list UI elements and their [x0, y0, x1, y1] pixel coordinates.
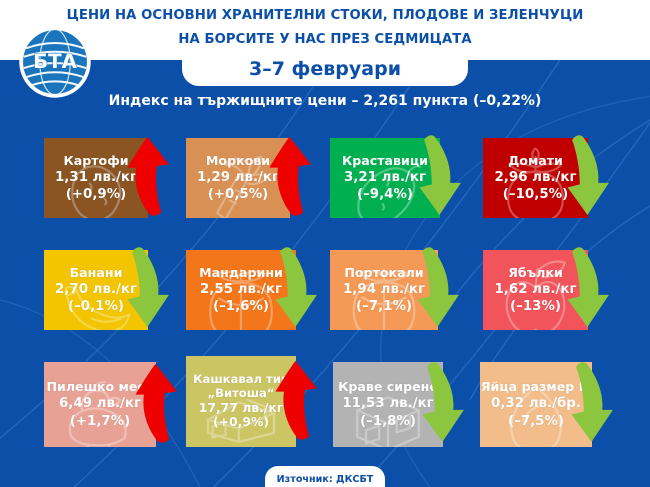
price-card-bananas: Банани2,70 лв./кг(–0,1%) [44, 250, 148, 330]
source-pill: Източник: ДКСБТ [265, 466, 385, 487]
card-price: 1,94 лв./кг [330, 281, 438, 298]
card-price: 1,29 лв./кг [186, 169, 290, 186]
card-product-name: Картофи [44, 153, 148, 169]
svg-text:БТА: БТА [33, 50, 78, 73]
card-product-name: Моркови [186, 153, 290, 169]
card-text: Портокали1,94 лв./кг(–7,1%) [330, 265, 438, 315]
price-card-oranges: Портокали1,94 лв./кг(–7,1%) [330, 250, 438, 330]
market-index-label: Индекс на тържищните цени – 2,261 пункта… [0, 93, 650, 109]
card-text: Банани2,70 лв./кг(–0,1%) [44, 265, 148, 315]
card-product-name: Краве сирене [333, 379, 443, 395]
card-price: 1,31 лв./кг [44, 169, 148, 186]
card-price: 2,96 лв./кг [483, 169, 588, 186]
card-product-name: Мандарини [186, 265, 296, 281]
card-price: 11,53 лв./кг [333, 395, 443, 412]
page-title-line1: ЦЕНИ НА ОСНОВНИ ХРАНИТЕЛНИ СТОКИ, ПЛОДОВ… [0, 8, 650, 23]
card-change-pct: (–1,8%) [333, 413, 443, 430]
card-change-pct: (–9,4%) [330, 186, 440, 203]
price-card-eggs: Яйца размер М0,32 лв./бр.(–7,5%) [480, 362, 592, 447]
price-card-white-cheese: Краве сирене11,53 лв./кг(–1,8%) [333, 362, 443, 447]
price-card-carrots: Моркови1,29 лв./кг(+0,5%) [186, 138, 290, 218]
infographic-root: БТА ЦЕНИ НА ОСНОВНИ ХРАНИТЕЛНИ СТОКИ, ПЛ… [0, 0, 650, 487]
card-product-name: Кашкавал тип [186, 373, 296, 387]
card-change-pct: (–10,5%) [483, 186, 588, 203]
card-product-name: Краставици [330, 153, 440, 169]
card-change-pct: (–13%) [483, 298, 588, 315]
price-card-apples: Ябълки1,62 лв./кг(–13%) [483, 250, 588, 330]
card-text: Пилешко месо6,49 лв./кг(+1,7%) [44, 379, 156, 429]
card-product-name: Яйца размер М [480, 379, 592, 395]
card-price: 1,62 лв./кг [483, 281, 588, 298]
card-change-pct: (–7,1%) [330, 298, 438, 315]
card-text: Кашкавал тип„Витоша“17,77 лв./кг(+0,9%) [186, 373, 296, 430]
card-text: Ябълки1,62 лв./кг(–13%) [483, 265, 588, 315]
card-change-pct: (+0,5%) [186, 186, 290, 203]
card-change-pct: (–7,5%) [480, 413, 592, 430]
price-card-potatoes: Картофи1,31 лв./кг(+0,9%) [44, 138, 148, 218]
price-card-tomatoes: Домати2,96 лв./кг(–10,5%) [483, 138, 588, 218]
card-change-pct: (+1,7%) [44, 413, 156, 430]
page-title-line2: НА БОРСИТЕ У НАС ПРЕЗ СЕДМИЦАТА [0, 32, 650, 47]
price-card-mandarins: Мандарини2,55 лв./кг(–1,6%) [186, 250, 296, 330]
date-range-label: 3–7 февруари [182, 58, 468, 80]
card-change-pct: (+0,9%) [186, 415, 296, 430]
card-product-name: Домати [483, 153, 588, 169]
card-product-name: Портокали [330, 265, 438, 281]
card-text: Яйца размер М0,32 лв./бр.(–7,5%) [480, 379, 592, 429]
card-product-name-line2: „Витоша“ [186, 387, 296, 401]
card-price: 17,77 лв./кг [186, 401, 296, 416]
card-text: Моркови1,29 лв./кг(+0,5%) [186, 153, 290, 203]
price-card-cucumbers: Краставици3,21 лв./кг(–9,4%) [330, 138, 440, 218]
card-price: 6,49 лв./кг [44, 395, 156, 412]
card-text: Краставици3,21 лв./кг(–9,4%) [330, 153, 440, 203]
card-price: 2,55 лв./кг [186, 281, 296, 298]
card-text: Картофи1,31 лв./кг(+0,9%) [44, 153, 148, 203]
card-text: Домати2,96 лв./кг(–10,5%) [483, 153, 588, 203]
card-change-pct: (+0,9%) [44, 186, 148, 203]
source-label: Източник: ДКСБТ [277, 474, 374, 485]
price-card-kashkaval: Кашкавал тип„Витоша“17,77 лв./кг(+0,9%) [186, 356, 296, 447]
card-change-pct: (–0,1%) [44, 298, 148, 315]
card-product-name: Банани [44, 265, 148, 281]
card-price: 2,70 лв./кг [44, 281, 148, 298]
card-change-pct: (–1,6%) [186, 298, 296, 315]
price-card-chicken: Пилешко месо6,49 лв./кг(+1,7%) [44, 362, 156, 447]
card-product-name: Пилешко месо [44, 379, 156, 395]
card-price: 3,21 лв./кг [330, 169, 440, 186]
card-price: 0,32 лв./бр. [480, 395, 592, 412]
card-product-name: Ябълки [483, 265, 588, 281]
bta-logo-icon: БТА [17, 24, 93, 100]
card-text: Мандарини2,55 лв./кг(–1,6%) [186, 265, 296, 315]
card-text: Краве сирене11,53 лв./кг(–1,8%) [333, 379, 443, 429]
